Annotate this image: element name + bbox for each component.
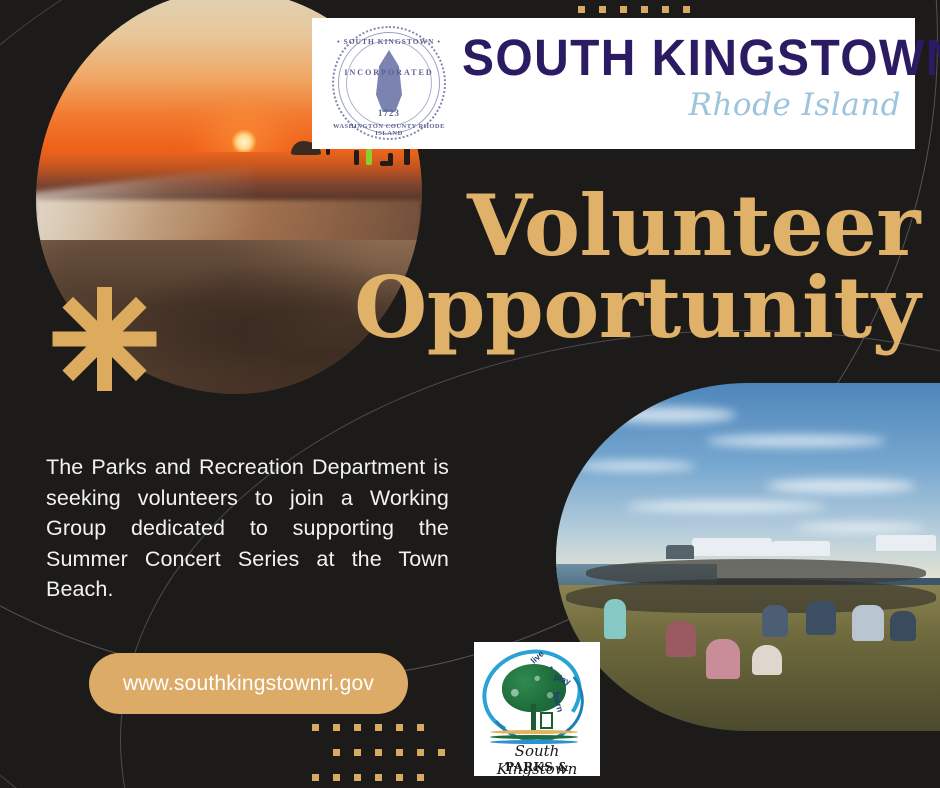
seal-bottom-text: WASHINGTON COUNTY RHODE ISLAND [330, 123, 448, 137]
asterisk-icon [52, 287, 156, 391]
cloud [706, 435, 886, 447]
cloud [576, 461, 696, 471]
lawn-chair [852, 605, 884, 641]
tagline-word: learn [551, 691, 566, 713]
body-paragraph: The Parks and Recreation Department is s… [46, 452, 449, 605]
town-seal-icon: • SOUTH KINGSTOWN • INCORPORATED 1723 WA… [330, 24, 448, 142]
seal-year-text: 1723 [330, 108, 448, 118]
beach-walker [366, 149, 372, 165]
logo-department: PARKS & RECREATION [474, 760, 600, 776]
cloud [596, 407, 736, 423]
lawn-chair [890, 611, 916, 641]
poster-canvas: • SOUTH KINGSTOWN • INCORPORATED 1723 WA… [0, 0, 940, 788]
headline-line-2: Opportunity [300, 267, 920, 349]
dot-grid-bottom [312, 724, 482, 786]
event-tent [876, 535, 936, 551]
tagline-sep: * [549, 664, 554, 674]
lawn-chair [806, 601, 836, 635]
tagline-word: play [553, 671, 573, 687]
concert-attendee [666, 621, 696, 657]
wordmark-subtitle: Rhode Island [462, 87, 907, 123]
event-tent [692, 538, 772, 556]
event-tent [772, 541, 830, 556]
website-url-pill[interactable]: www.southkingstownri.gov [89, 653, 408, 714]
website-url-label: www.southkingstownri.gov [123, 672, 374, 696]
beach-walker [354, 150, 359, 165]
cloud [796, 523, 926, 532]
concert-attendee [604, 599, 626, 639]
parks-recreation-logo: live * play * learn South Kingstown PARK… [474, 642, 600, 776]
cloud [766, 479, 916, 493]
town-wordmark: SOUTH KINGSTOWN Rhode Island [462, 32, 907, 123]
cloud [626, 501, 826, 512]
seal-top-text: • SOUTH KINGSTOWN • [330, 37, 448, 46]
seal-mid-text: INCORPORATED [330, 68, 448, 77]
concert-crowd-image [556, 383, 940, 731]
wordmark-title: SOUTH KINGSTOWN [462, 32, 880, 83]
beach-dog [380, 161, 389, 166]
stage-structure [666, 545, 694, 559]
headline-line-1: Volunteer [300, 185, 920, 267]
town-header-band: • SOUTH KINGSTOWN • INCORPORATED 1723 WA… [312, 18, 915, 149]
sun [231, 129, 257, 155]
logo-tagline: live * play * learn [536, 644, 596, 716]
dot-grid-top [578, 6, 698, 16]
concert-attendee [706, 639, 740, 679]
page-title: Volunteer Opportunity [300, 185, 920, 350]
lawn-chair [762, 605, 788, 637]
concert-attendee [752, 645, 782, 675]
